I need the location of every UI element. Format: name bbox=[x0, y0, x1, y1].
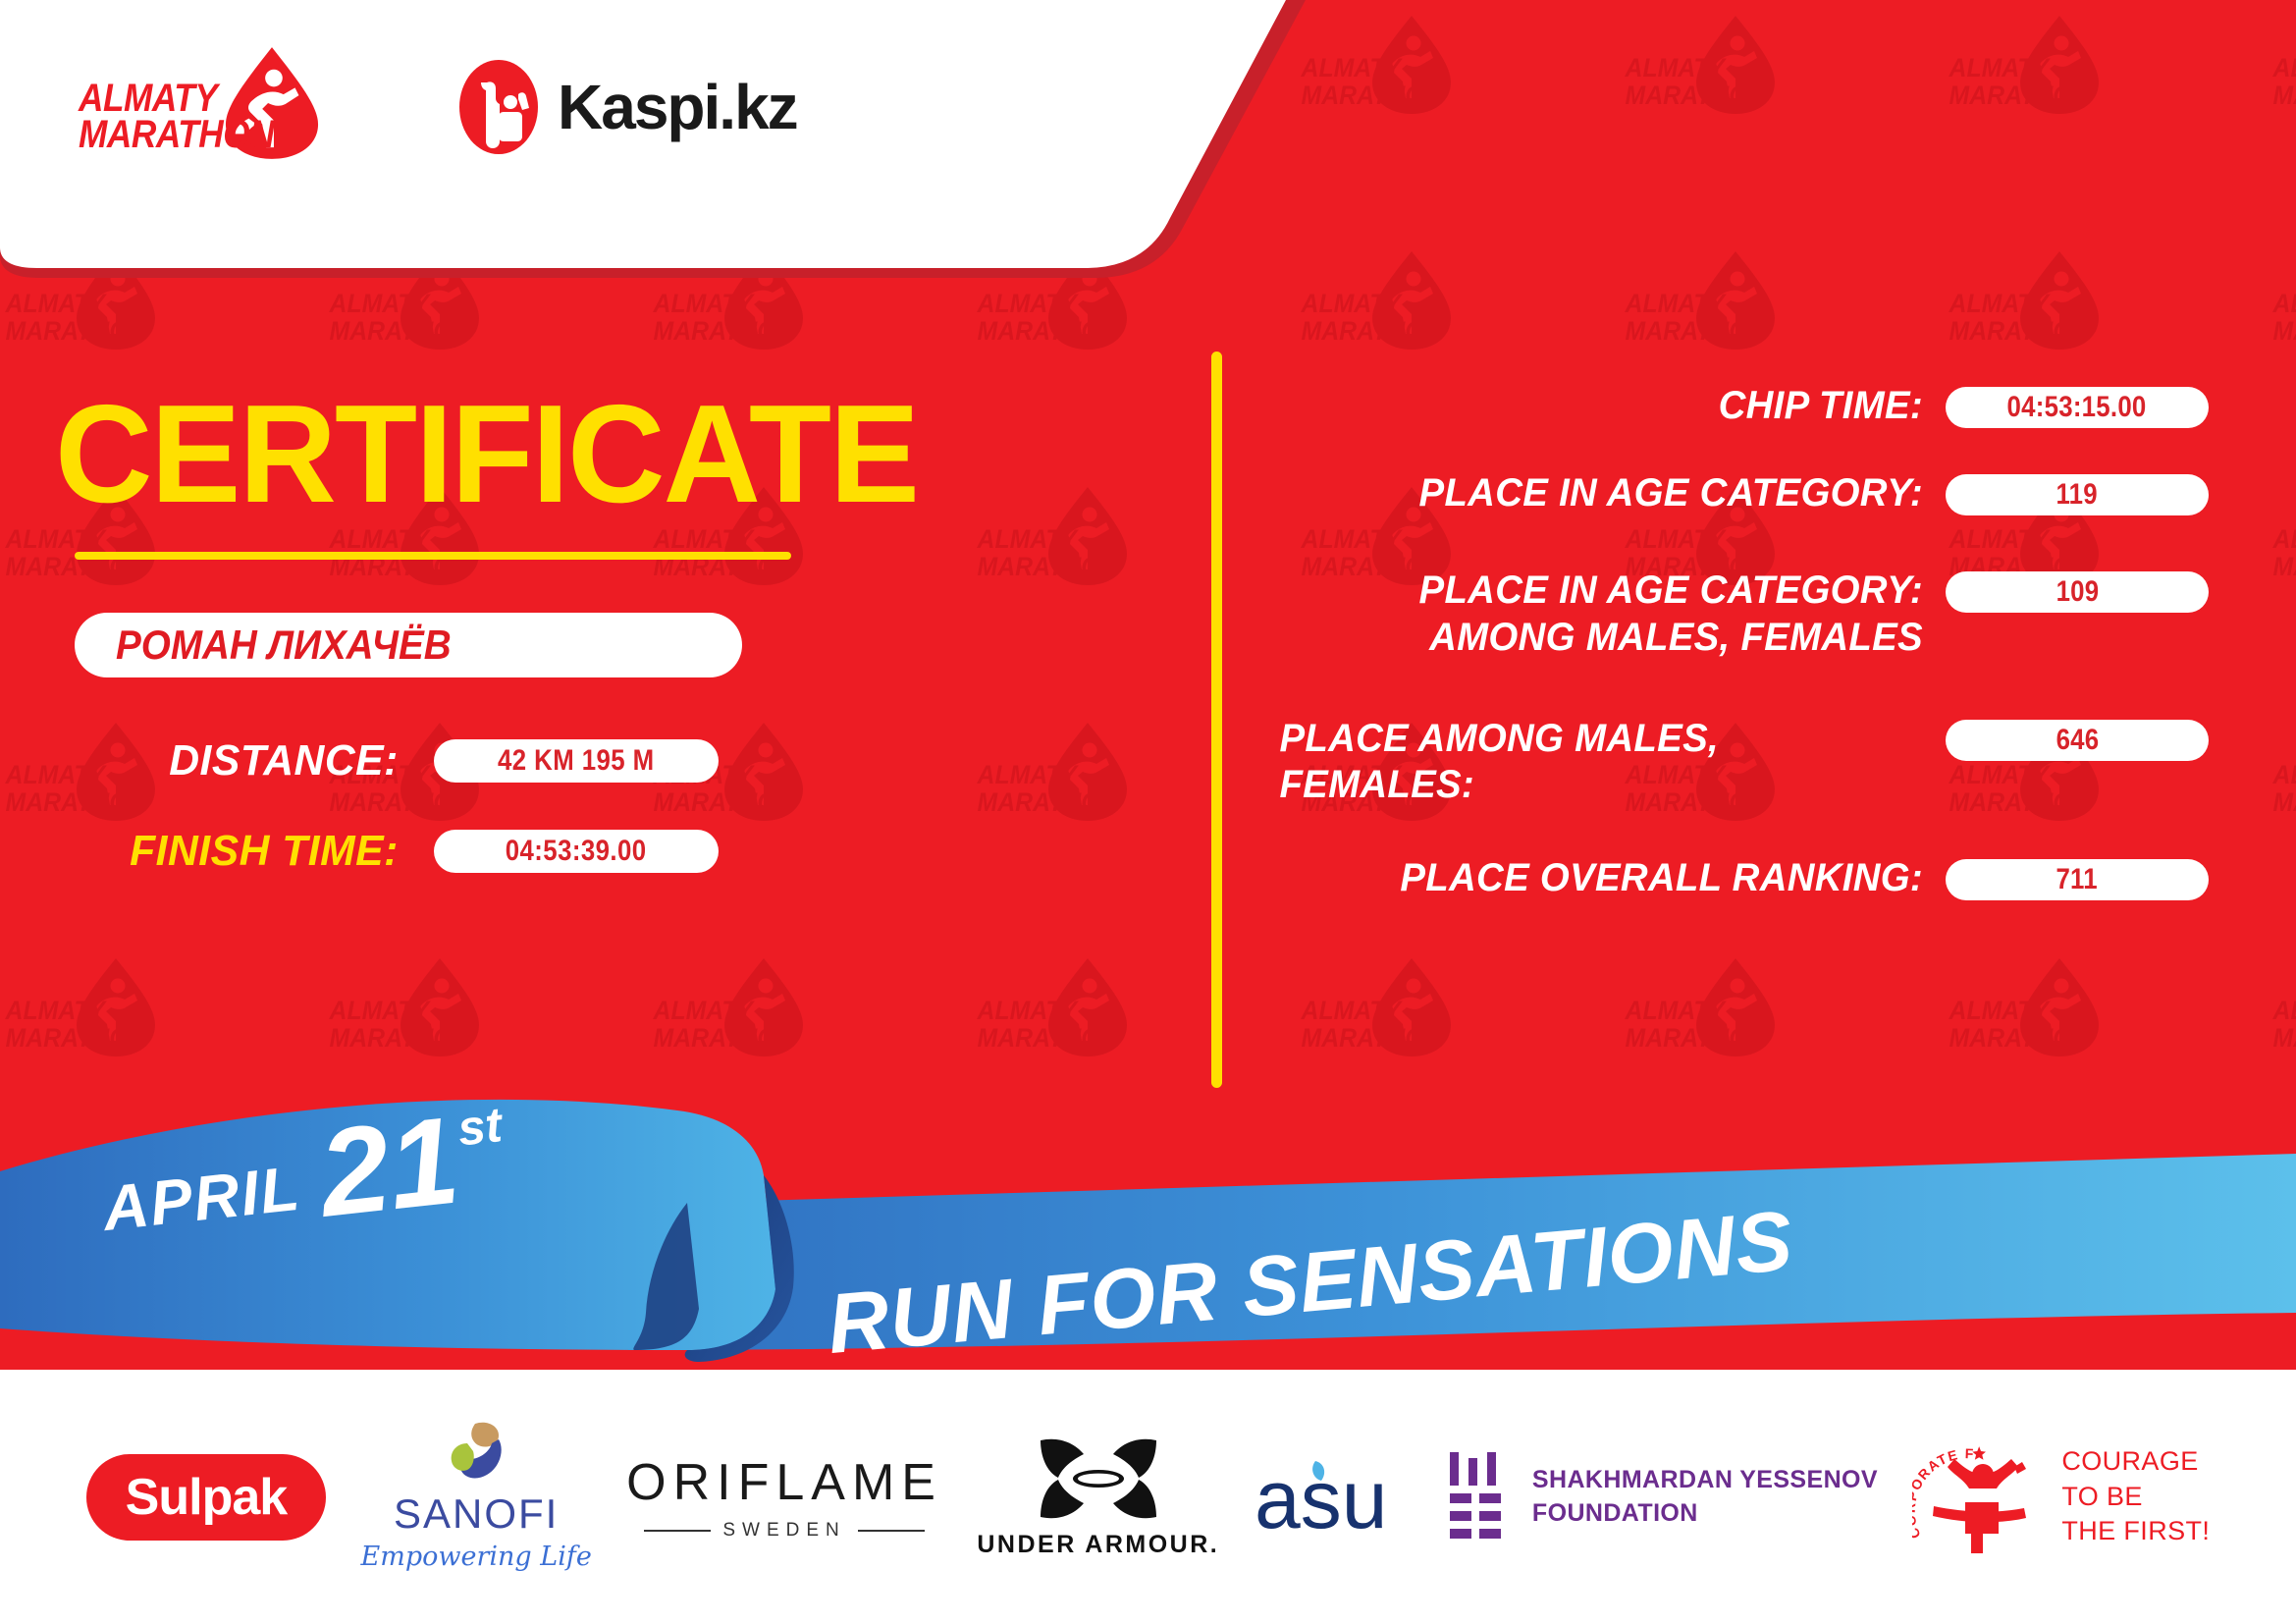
place-among-gender-value-pill: 646 bbox=[1946, 720, 2209, 761]
place-among-gender-label-line1: PLACE AMONG MALES, bbox=[1279, 716, 1896, 762]
sanofi-tagline: Empowering Life bbox=[361, 1542, 592, 1572]
sulpak-logo: Sulpak bbox=[86, 1454, 327, 1541]
place-among-gender-value: 646 bbox=[2056, 724, 2099, 757]
place-age-category-value-pill: 119 bbox=[1946, 474, 2209, 515]
place-age-category-gender-label: PLACE IN AGE CATEGORY: AMONG MALES, FEMA… bbox=[1294, 568, 1946, 660]
result-row-chip-time: CHIP TIME: 04:53:15.00 bbox=[1266, 383, 2209, 429]
yessenov-line-1: SHAKHMARDAN YESSENOV bbox=[1532, 1464, 1878, 1497]
distance-value: 42 KM 195 M bbox=[498, 744, 655, 778]
vertical-divider bbox=[1211, 352, 1222, 1088]
page-title: CERTIFICATE bbox=[55, 385, 1141, 524]
place-age-category-gender-label-line1: PLACE IN AGE CATEGORY: bbox=[1294, 568, 1923, 614]
finish-time-label: FINISH TIME: bbox=[75, 827, 399, 876]
chip-time-value-pill: 04:53:15.00 bbox=[1946, 387, 2209, 428]
place-age-category-label: PLACE IN AGE CATEGORY: bbox=[1294, 470, 1946, 516]
oriflame-logo-text: ORIFLAME bbox=[626, 1453, 942, 1512]
courage-line-2: TO BE bbox=[2061, 1480, 2210, 1515]
chip-time-value: 04:53:15.00 bbox=[2007, 391, 2147, 424]
oriflame-logo: ORIFLAME SWEDEN bbox=[626, 1453, 942, 1542]
oriflame-tagline: SWEDEN bbox=[722, 1520, 845, 1542]
sanofi-logo-text: SANOFI bbox=[394, 1490, 559, 1538]
distance-row: DISTANCE: 42 KM 195 M bbox=[75, 736, 1174, 785]
oriflame-subline: SWEDEN bbox=[644, 1520, 924, 1542]
oriflame-rule-left bbox=[644, 1530, 711, 1532]
result-row-place-age-category-gender: PLACE IN AGE CATEGORY: AMONG MALES, FEMA… bbox=[1266, 568, 2209, 660]
result-row-place-age-category: PLACE IN AGE CATEGORY: 119 bbox=[1266, 470, 2209, 516]
place-among-gender-label-line2: FEMALES: bbox=[1279, 762, 1896, 808]
courage-runner-icon: CORPORATE FUND bbox=[1912, 1439, 2046, 1555]
event-date: APRIL 21 st bbox=[95, 1096, 510, 1253]
yessenov-mark-icon bbox=[1446, 1452, 1507, 1543]
event-day: 21 bbox=[315, 1106, 463, 1228]
participant-name: РОМАН ЛИХАЧЁВ bbox=[116, 622, 452, 669]
courage-to-be-the-first-logo: CORPORATE FUND COURAGE TO BE THE FIRS bbox=[1912, 1439, 2210, 1555]
yessenov-logo-text: SHAKHMARDAN YESSENOV FOUNDATION bbox=[1532, 1464, 1878, 1530]
place-age-category-value: 119 bbox=[2056, 478, 2098, 512]
courage-logo-text: COURAGE TO BE THE FIRST! bbox=[2061, 1444, 2210, 1549]
courage-line-3: THE FIRST! bbox=[2061, 1514, 2210, 1549]
sulpak-logo-text: Sulpak bbox=[126, 1468, 288, 1527]
kaspi-logo: Kaspi.kz bbox=[457, 59, 797, 155]
sanofi-mark-icon bbox=[440, 1422, 512, 1485]
place-overall-value-pill: 711 bbox=[1946, 859, 2209, 900]
finish-time-value: 04:53:39.00 bbox=[506, 835, 647, 868]
yessenov-line-2: FOUNDATION bbox=[1532, 1497, 1878, 1531]
certificate-left-panel: CERTIFICATE РОМАН ЛИХАЧЁВ DISTANCE: 42 K… bbox=[45, 385, 1174, 876]
logo-line-2: MARATHON bbox=[79, 113, 274, 156]
place-age-category-gender-value: 109 bbox=[2056, 575, 2099, 609]
event-month: APRIL bbox=[99, 1152, 304, 1245]
chip-time-label: CHIP TIME: bbox=[1294, 383, 1946, 429]
results-panel: CHIP TIME: 04:53:15.00 PLACE IN AGE CATE… bbox=[1266, 383, 2209, 943]
under-armour-logo-text: UNDER ARMOUR. bbox=[977, 1531, 1219, 1559]
place-age-category-gender-value-pill: 109 bbox=[1946, 571, 2209, 613]
finish-time-row: FINISH TIME: 04:53:39.00 bbox=[75, 827, 1174, 876]
place-among-gender-label: PLACE AMONG MALES, FEMALES: bbox=[1266, 716, 1918, 808]
sponsor-list: Sulpak SANOFI Empowering Life ORIFLAME bbox=[0, 1422, 2296, 1572]
participant-name-field: РОМАН ЛИХАЧЁВ bbox=[75, 613, 742, 677]
event-slogan: RUN FOR SENSATIONS bbox=[824, 1192, 1796, 1374]
place-overall-label: PLACE OVERALL RANKING: bbox=[1294, 855, 1946, 901]
distance-label: DISTANCE: bbox=[75, 736, 399, 785]
sponsors-footer: Sulpak SANOFI Empowering Life ORIFLAME bbox=[0, 1370, 2296, 1624]
place-overall-value: 711 bbox=[2056, 863, 2098, 896]
header-logos: ALMATY MARATHON Kaspi.kz bbox=[0, 0, 1178, 255]
asu-mark-icon: asu bbox=[1255, 1455, 1412, 1540]
shakhmardan-yessenov-foundation-logo: SHAKHMARDAN YESSENOV FOUNDATION bbox=[1446, 1452, 1878, 1543]
kaspi-logo-text: Kaspi.kz bbox=[558, 71, 797, 143]
asu-logo: asu bbox=[1255, 1455, 1412, 1540]
result-row-place-among-gender: PLACE AMONG MALES, FEMALES: 646 bbox=[1266, 716, 2209, 808]
courage-line-1: COURAGE bbox=[2061, 1444, 2210, 1480]
event-day-suffix: st bbox=[454, 1096, 504, 1157]
almaty-marathon-logo: ALMATY MARATHON bbox=[79, 41, 314, 169]
distance-value-pill: 42 KM 195 M bbox=[434, 739, 719, 783]
oriflame-rule-right bbox=[858, 1530, 925, 1532]
sanofi-logo: SANOFI Empowering Life bbox=[361, 1422, 592, 1572]
under-armour-mark-icon bbox=[1037, 1435, 1160, 1523]
place-age-category-gender-label-line2: AMONG MALES, FEMALES bbox=[1294, 615, 1923, 661]
kaspi-people-icon bbox=[457, 59, 540, 155]
almaty-marathon-logo-text: ALMATY MARATHON bbox=[79, 81, 274, 153]
title-underline bbox=[75, 552, 791, 560]
certificate-canvas: ALMATY MARATHON Kaspi.kz CERTIFICATE РОМ… bbox=[0, 0, 2296, 1624]
result-row-place-overall: PLACE OVERALL RANKING: 711 bbox=[1266, 855, 2209, 901]
finish-time-value-pill: 04:53:39.00 bbox=[434, 830, 719, 873]
under-armour-logo: UNDER ARMOUR. bbox=[977, 1435, 1219, 1559]
